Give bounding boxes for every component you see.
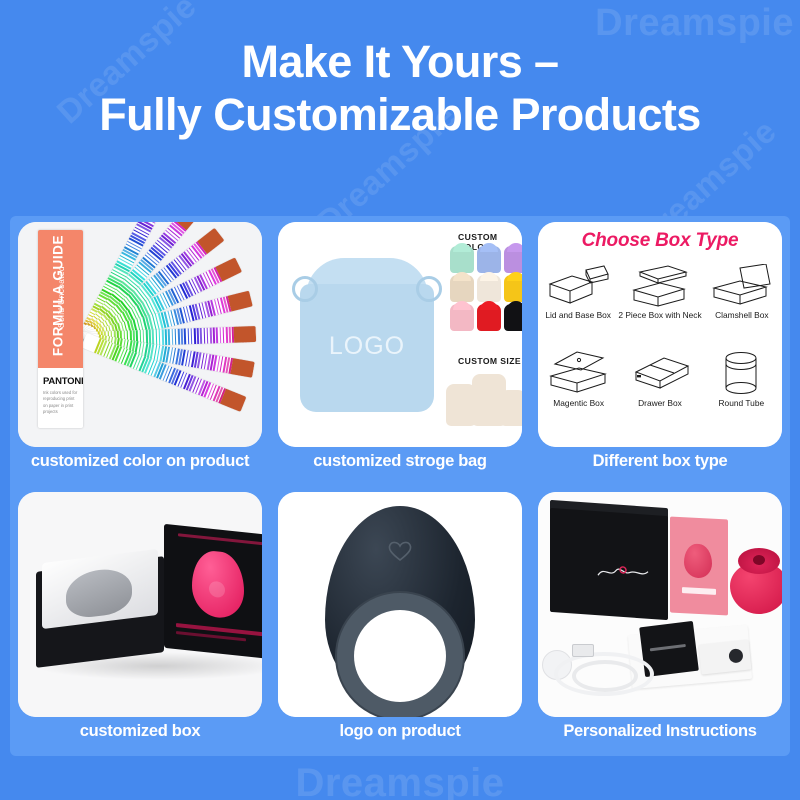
pantone-fine-print: Ink colors used for reproducing print on… — [43, 390, 79, 415]
bag-swatch[interactable] — [504, 275, 522, 302]
card-different-box-type[interactable]: Choose Box Type — [530, 216, 790, 486]
heart-logo-icon — [385, 540, 415, 562]
color-swatch-grid — [450, 246, 522, 331]
instruction-card-text-bar — [682, 587, 716, 595]
card-caption: customized stroge bag — [278, 452, 522, 470]
usb-cable-coil-inner — [572, 660, 638, 692]
bag-swatch[interactable] — [450, 246, 474, 273]
round-tube-icon — [709, 350, 773, 396]
card-caption: customized color on product — [18, 452, 262, 470]
watermark-bottom-center: Dreamspie — [295, 761, 504, 800]
card-customized-storage-bag[interactable]: LOGO CUSTOM COLOR CUSTOM SIZ — [270, 216, 530, 486]
pantone-brand-label: PANTONE® — [43, 376, 83, 387]
bag-swatch[interactable] — [477, 246, 501, 273]
rose-suction-opening — [753, 555, 765, 565]
box-type-row-1: Lid and Base Box — [538, 264, 782, 320]
rose-product-print — [192, 549, 244, 620]
cards-grid: FORMULA GUIDE Solid Uncoated PANTONE® In… — [10, 216, 790, 756]
ring-scene — [278, 492, 522, 717]
card-image-logo-ring — [278, 492, 522, 717]
box-top-print — [178, 533, 262, 545]
box-type-label: Magentic Box — [553, 398, 604, 408]
bag-swatch[interactable] — [504, 246, 522, 273]
pantone-cover-card: FORMULA GUIDE Solid Uncoated PANTONE® In… — [38, 230, 83, 428]
black-gift-box — [550, 508, 668, 620]
packaging-set-scene — [538, 492, 782, 717]
drawstring-bag-icon: LOGO — [292, 254, 442, 414]
box-type-item[interactable]: 2 Piece Box with Neck — [618, 264, 701, 320]
usb-cable — [554, 644, 646, 688]
box-type-label: Lid and Base Box — [545, 310, 611, 320]
bag-swatch[interactable] — [450, 304, 474, 331]
pantone-guide-subtitle: Solid Uncoated — [56, 232, 66, 362]
drawer-box-icon — [628, 350, 692, 396]
fan-blade-tip — [229, 353, 254, 378]
card-caption: Different box type — [538, 452, 782, 470]
card-image-storage-bag: LOGO CUSTOM COLOR CUSTOM SIZ — [278, 222, 522, 447]
bag-swatch[interactable] — [504, 304, 522, 331]
bag-scene: LOGO CUSTOM COLOR CUSTOM SIZ — [278, 222, 522, 447]
size-bag — [500, 390, 522, 426]
card-personalized-instructions[interactable]: Personalized Instructions — [530, 486, 790, 756]
two-piece-box-with-neck-icon — [628, 264, 692, 308]
bag-swatch[interactable] — [477, 275, 501, 302]
card-text-line — [650, 644, 686, 651]
bag-swatch[interactable] — [477, 304, 501, 331]
card-customized-box[interactable]: customized box — [10, 486, 270, 756]
clamshell-box-icon — [710, 264, 774, 308]
card-image-pantone: FORMULA GUIDE Solid Uncoated PANTONE® In… — [18, 222, 262, 447]
bag-logo-text: LOGO — [292, 332, 442, 361]
fan-blade-tip — [233, 326, 256, 348]
card-image-box-types: Choose Box Type — [538, 222, 782, 447]
card-image-customized-box — [18, 492, 262, 717]
product-tag-card — [699, 639, 752, 674]
box-type-item[interactable]: Clamshell Box — [702, 264, 782, 320]
box-lid-printed — [164, 524, 262, 660]
card-caption: customized box — [18, 722, 262, 740]
magnetic-box-icon — [547, 350, 611, 396]
title-line-2: Fully Customizable Products — [0, 89, 800, 142]
card-caption: Personalized Instructions — [538, 722, 782, 740]
box-type-item[interactable]: Drawer Box — [619, 350, 700, 408]
box-type-label: Clamshell Box — [715, 310, 769, 320]
rose-product — [730, 548, 782, 614]
box-type-item[interactable]: Lid and Base Box — [538, 264, 618, 320]
fan-blade-tip — [226, 291, 252, 317]
customized-box-scene — [18, 492, 262, 717]
pantone-scene: FORMULA GUIDE Solid Uncoated PANTONE® In… — [18, 222, 262, 447]
usb-plug-icon — [572, 644, 594, 657]
box-type-item[interactable]: Round Tube — [701, 350, 782, 408]
pink-instruction-card — [670, 516, 728, 615]
card-image-personalized-instructions — [538, 492, 782, 717]
box-type-label: Drawer Box — [638, 398, 682, 408]
box-type-item[interactable]: Magentic Box — [538, 350, 619, 408]
page-title: Make It Yours – Fully Customizable Produ… — [0, 36, 800, 141]
card-logo-on-product[interactable]: logo on product — [270, 486, 530, 756]
tag-button-icon — [728, 648, 743, 663]
box-type-label: Round Tube — [719, 398, 765, 408]
custom-size-label: CUSTOM SIZE — [458, 356, 521, 366]
box-type-label: 2 Piece Box with Neck — [618, 310, 701, 320]
box-type-row-2: Magentic Box — [538, 350, 782, 408]
bag-drawstring-right — [416, 276, 442, 302]
box-type-heading: Choose Box Type — [538, 230, 782, 252]
brand-signature-icon — [596, 563, 650, 583]
lid-and-base-box-icon — [546, 264, 610, 308]
card-caption: logo on product — [278, 722, 522, 740]
bag-swatch[interactable] — [450, 275, 474, 302]
size-variants-group — [446, 372, 522, 428]
infographic-canvas: Dreamspie Dreamspie Dreamspie Dreamspie … — [0, 0, 800, 800]
ring-opening — [354, 610, 446, 702]
title-line-1: Make It Yours – — [0, 36, 800, 89]
box-type-scene: Choose Box Type — [538, 222, 782, 447]
bag-drawstring-left — [292, 276, 318, 302]
product-illustration — [684, 543, 712, 578]
card-customized-color[interactable]: FORMULA GUIDE Solid Uncoated PANTONE® In… — [10, 216, 270, 486]
